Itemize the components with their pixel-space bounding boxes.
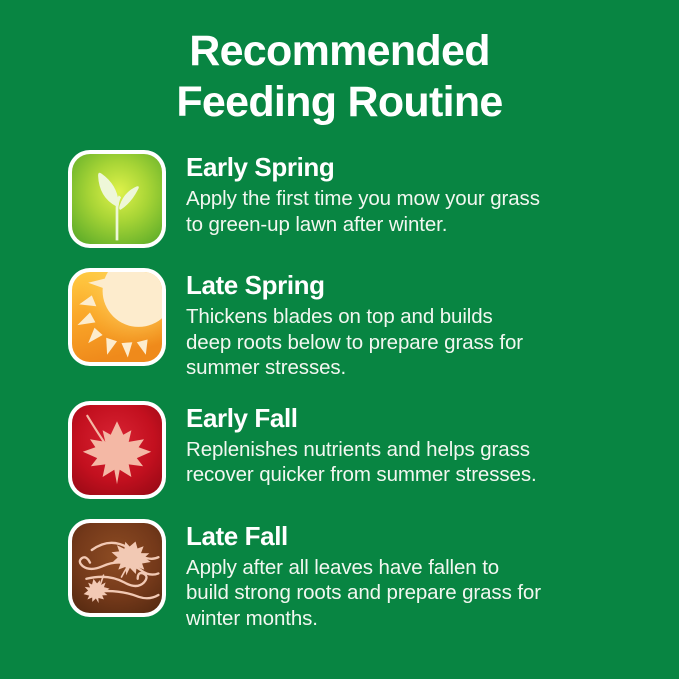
body-late-spring: Thickens blades on top and builds deep r… <box>186 304 661 381</box>
row-text-early-fall: Early Fall Replenishes nutrients and hel… <box>186 401 661 488</box>
heading-late-spring: Late Spring <box>186 270 661 300</box>
icon-tile-late-spring <box>68 268 166 366</box>
row-text-late-spring: Late Spring Thickens blades on top and b… <box>186 268 661 381</box>
tile-surface-late-spring <box>72 272 162 362</box>
list-item-early-fall: Early Fall Replenishes nutrients and hel… <box>68 401 661 499</box>
page-title: Recommended Feeding Routine <box>0 0 679 128</box>
routine-list: Early Spring Apply the first time you mo… <box>0 150 679 631</box>
body-early-fall: Replenishes nutrients and helps grass re… <box>186 437 661 488</box>
icon-tile-late-fall <box>68 519 166 617</box>
tile-surface-early-spring <box>72 154 162 244</box>
heading-early-spring: Early Spring <box>186 152 661 182</box>
row-text-late-fall: Late Fall Apply after all leaves have fa… <box>186 519 661 632</box>
tile-surface-late-fall <box>72 523 162 613</box>
wind-blown-leaves-icon <box>72 523 162 613</box>
title-line-2: Feeding Routine <box>0 77 679 128</box>
seedling-sprout-icon <box>72 154 162 244</box>
title-line-1: Recommended <box>0 26 679 77</box>
list-item-late-spring: Late Spring Thickens blades on top and b… <box>68 268 661 381</box>
heading-early-fall: Early Fall <box>186 403 661 433</box>
body-late-fall: Apply after all leaves have fallen to bu… <box>186 555 661 632</box>
icon-tile-early-spring <box>68 150 166 248</box>
icon-tile-early-fall <box>68 401 166 499</box>
list-item-late-fall: Late Fall Apply after all leaves have fa… <box>68 519 661 632</box>
list-item-early-spring: Early Spring Apply the first time you mo… <box>68 150 661 248</box>
maple-leaf-icon <box>72 405 162 495</box>
feeding-routine-infographic: Recommended Feeding Routine <box>0 0 679 679</box>
row-text-early-spring: Early Spring Apply the first time you mo… <box>186 150 661 237</box>
tile-surface-early-fall <box>72 405 162 495</box>
body-early-spring: Apply the first time you mow your grass … <box>186 186 661 237</box>
sun-icon <box>72 272 162 362</box>
heading-late-fall: Late Fall <box>186 521 661 551</box>
